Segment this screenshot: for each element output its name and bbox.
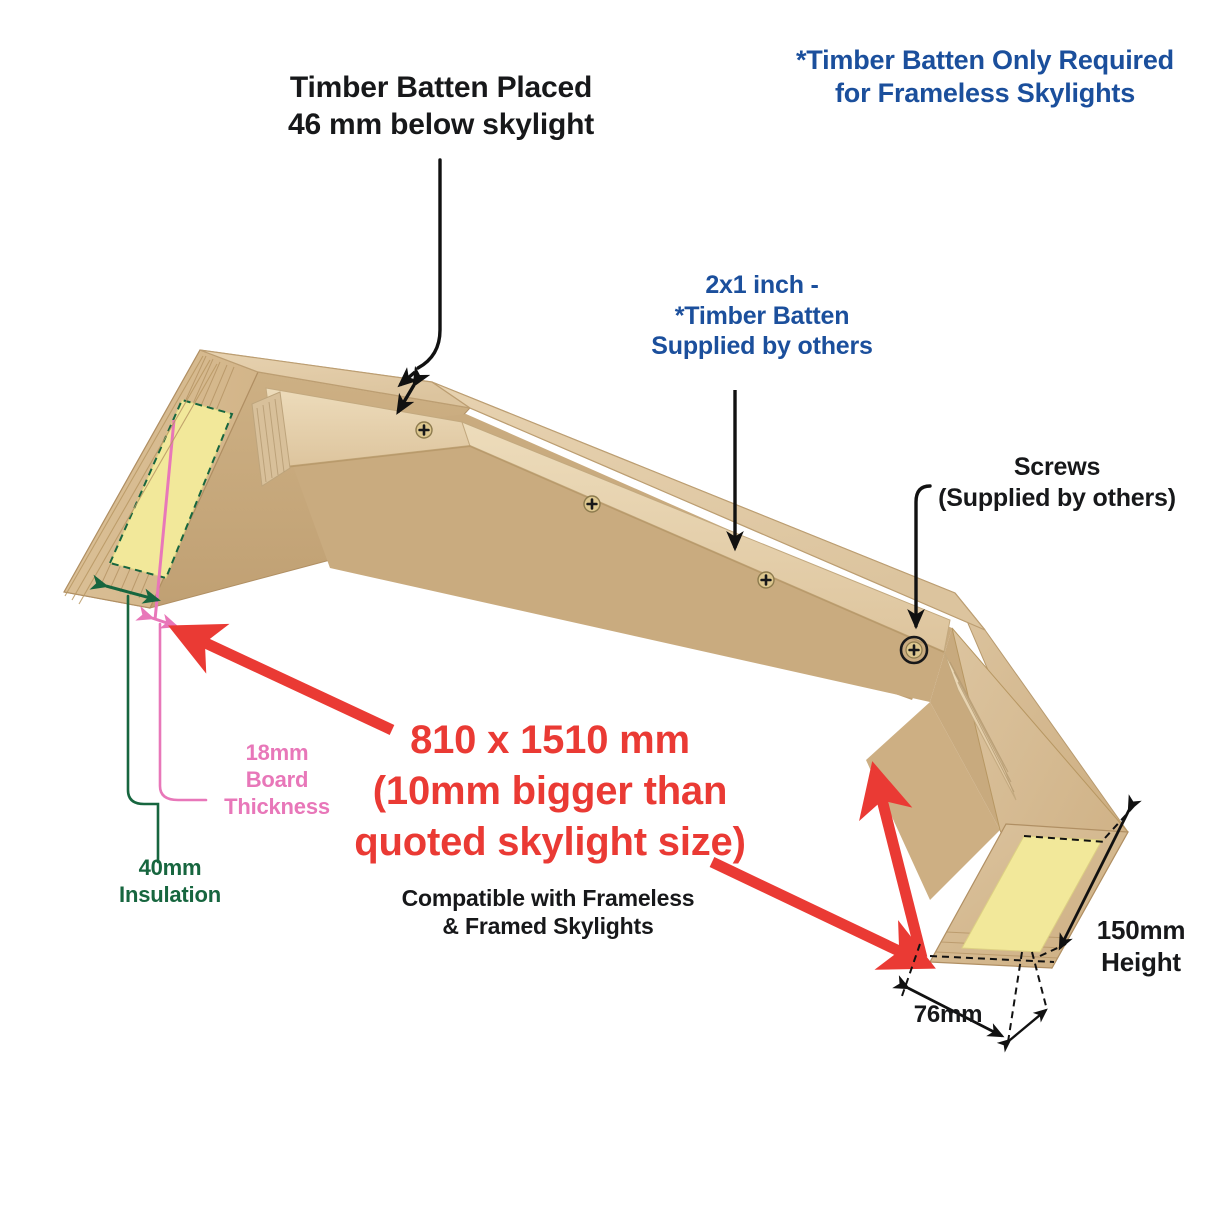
label-screws-supplied-by-others: Screws (Supplied by others) [900, 452, 1214, 513]
label-frameless-requirement-note: *Timber Batten Only Required for Framele… [755, 44, 1214, 110]
label-timber-batten-placed: Timber Batten Placed 46 mm below skyligh… [226, 70, 656, 143]
label-board-thickness: 18mm Board Thickness [212, 740, 342, 820]
label-insulation-thickness: 40mm Insulation [100, 855, 240, 909]
diagram-canvas: Timber Batten Placed 46 mm below skyligh… [0, 0, 1214, 1214]
screw-icon [584, 496, 600, 512]
label-kerb-height: 150mm Height [1076, 915, 1206, 978]
kerb-illustration [0, 0, 1214, 1214]
label-batten-2x1-supplied-by-others: 2x1 inch - *Timber Batten Supplied by ot… [612, 270, 912, 362]
label-compatibility: Compatible with Frameless & Framed Skyli… [368, 884, 728, 940]
label-aperture-size: 810 x 1510 mm (10mm bigger than quoted s… [330, 715, 770, 869]
label-kerb-wall-width: 76mm [900, 1000, 996, 1029]
dimension-insulation [106, 586, 158, 862]
screw-icon [416, 422, 432, 438]
leader-batten-placed [398, 160, 440, 412]
screw-icon [758, 572, 774, 588]
